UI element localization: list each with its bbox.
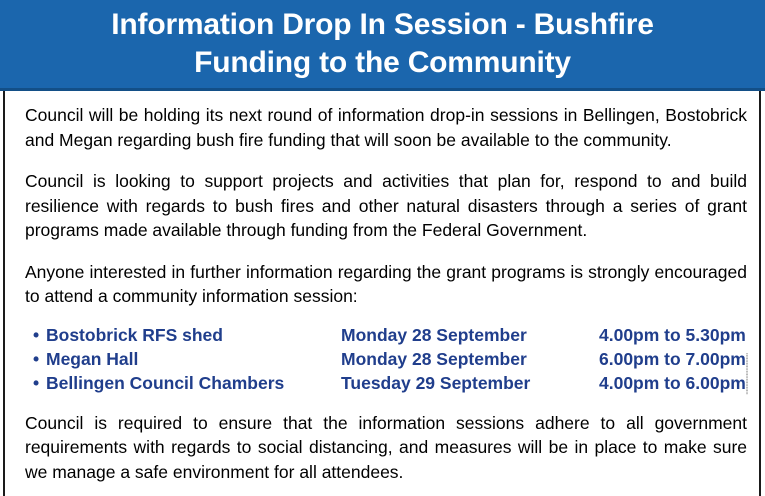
paragraph-covid-requirements: Council is required to ensure that the i… (25, 411, 747, 485)
session-list-item: • Bellingen Council Chambers Tuesday 29 … (25, 371, 747, 395)
session-list-item: • Bostobrick RFS shed Monday 28 Septembe… (25, 323, 747, 347)
session-time: 4.00pm to 5.30pm (599, 323, 746, 347)
session-time: 6.00pm to 7.00pm (599, 347, 746, 371)
bullet-icon: • (33, 347, 39, 371)
header-banner: Information Drop In Session - Bushfire F… (0, 0, 765, 91)
session-venue: Bellingen Council Chambers (46, 371, 284, 395)
flyer-page: Information Drop In Session - Bushfire F… (0, 0, 765, 496)
page-title: Information Drop In Session - Bushfire F… (0, 0, 765, 82)
session-list-item: • Megan Hall Monday 28 September 6.00pm … (25, 347, 747, 371)
session-venue: Megan Hall (46, 347, 138, 371)
session-date: Tuesday 29 September (341, 371, 530, 395)
session-date: Monday 28 September (341, 323, 527, 347)
paragraph-invitation: Anyone interested in further information… (25, 260, 747, 309)
paragraph-support: Council is looking to support projects a… (25, 169, 747, 243)
bullet-icon: • (33, 323, 39, 347)
paragraph-intro: Council will be holding its next round o… (25, 103, 747, 152)
session-time: 4.00pm to 6.00pm (599, 371, 746, 395)
document-content: Council will be holding its next round o… (25, 91, 747, 496)
bullet-icon: • (33, 371, 39, 395)
document-body: Council will be holding its next round o… (3, 91, 761, 496)
session-list: • Bostobrick RFS shed Monday 28 Septembe… (25, 323, 747, 395)
session-date: Monday 28 September (341, 347, 527, 371)
session-venue: Bostobrick RFS shed (46, 323, 223, 347)
